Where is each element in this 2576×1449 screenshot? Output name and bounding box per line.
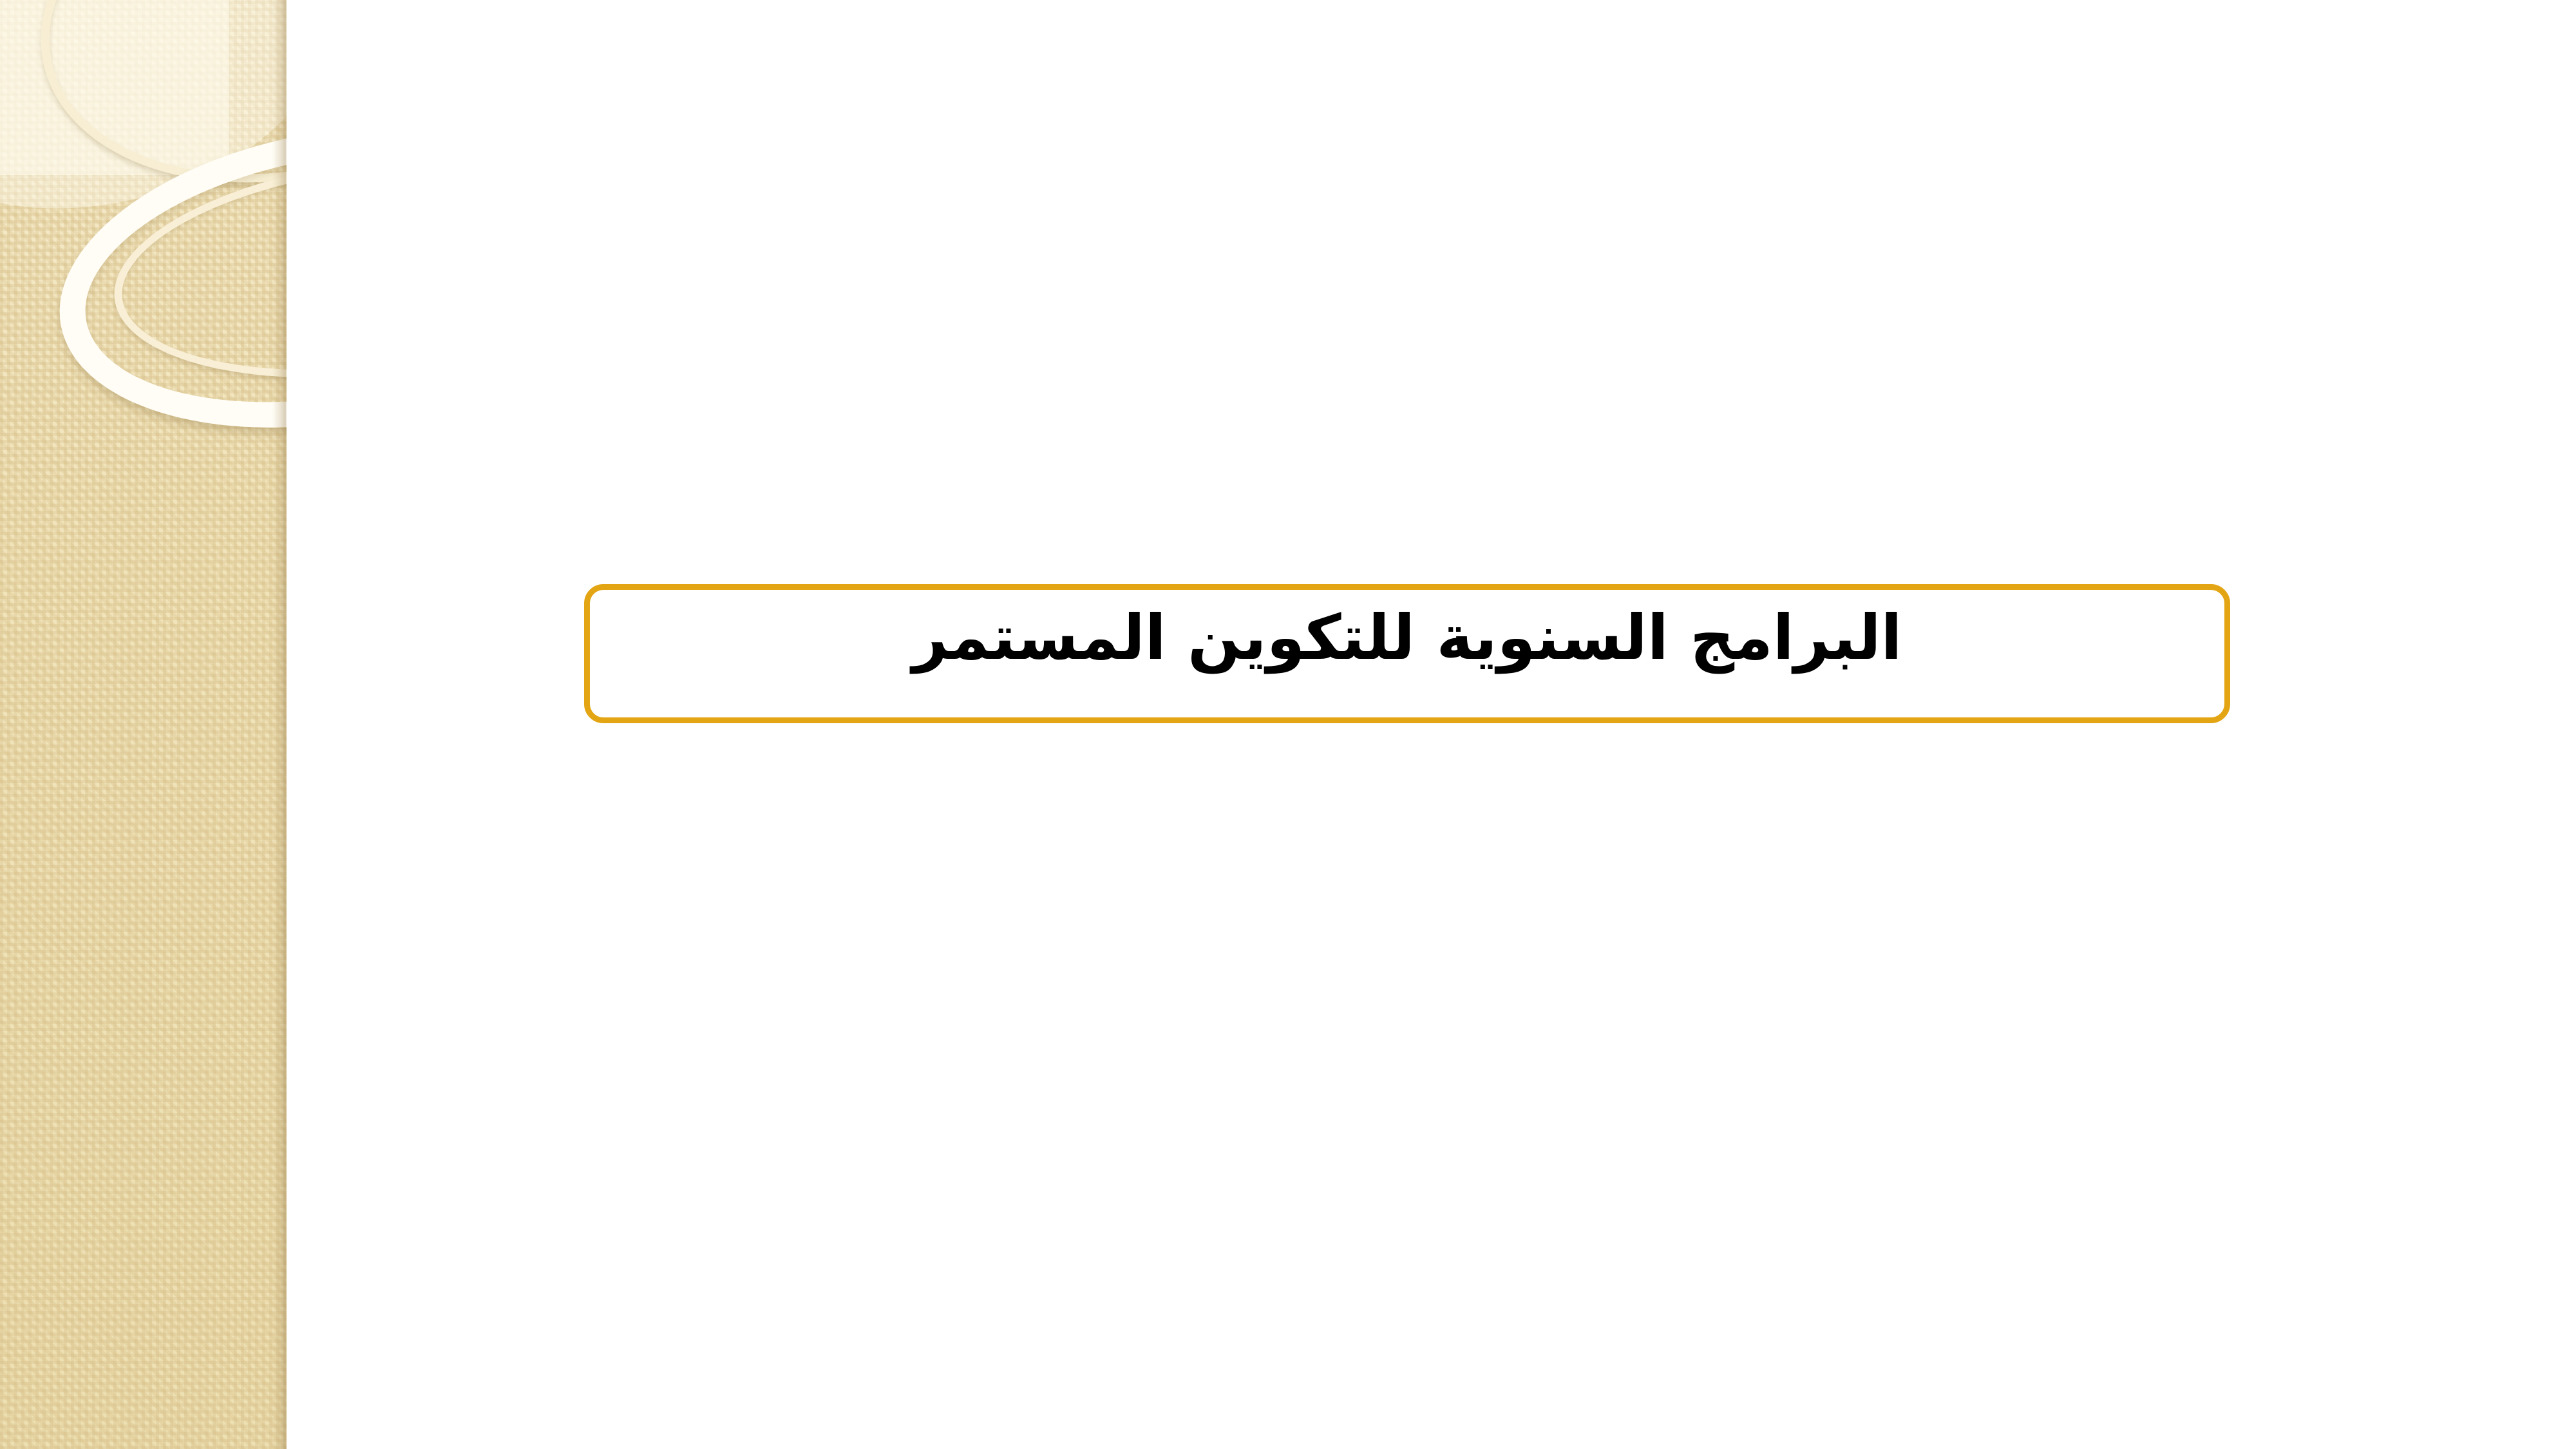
title-placeholder-box[interactable]: البرامج السنوية للتكوين المستمر [584, 584, 2230, 723]
decorative-sidebar [0, 0, 287, 1449]
slide-canvas: البرامج السنوية للتكوين المستمر [0, 0, 2576, 1449]
slide-content-area [287, 0, 2576, 1449]
slide-title-text: البرامج السنوية للتكوين المستمر [590, 590, 2224, 668]
